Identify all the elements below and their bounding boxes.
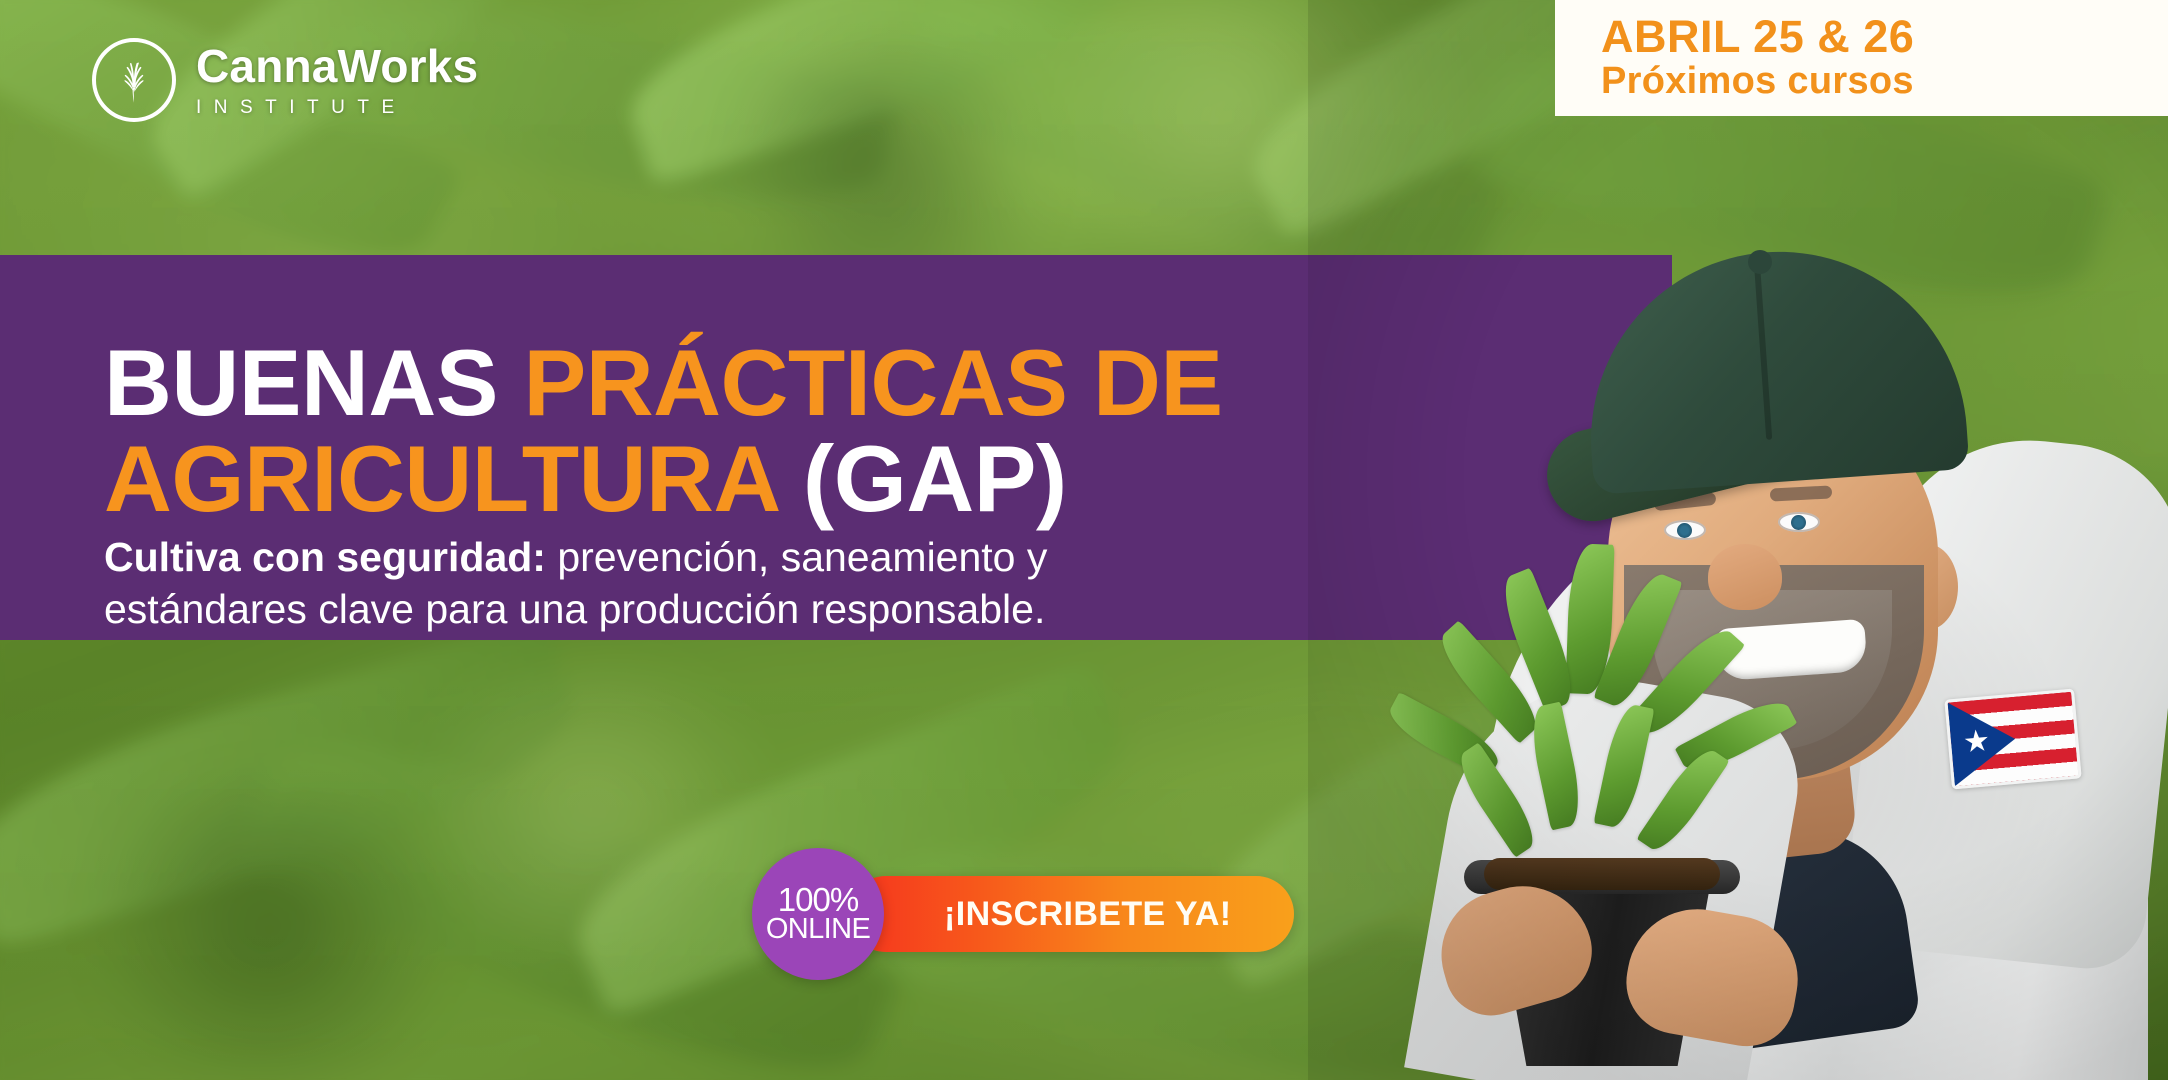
- headline-agricultura: AGRICULTURA: [104, 426, 803, 531]
- headline-buenas: BUENAS: [104, 330, 524, 435]
- photo-blend: [1308, 0, 2168, 1080]
- subtitle: Cultiva con seguridad: prevención, sanea…: [104, 531, 1104, 636]
- subtitle-lead: Cultiva con seguridad:: [104, 534, 546, 580]
- brand-wordmark: CannaWorks INSTITUTE: [196, 43, 478, 117]
- headline-line-1: BUENAS PRÁCTICAS DE: [104, 335, 1223, 431]
- brand-logo[interactable]: CannaWorks INSTITUTE: [92, 38, 478, 122]
- call-to-action: 100% ONLINE ¡INSCRIBETE YA!: [752, 848, 1294, 980]
- badge-online-label: ONLINE: [766, 915, 870, 944]
- enroll-button[interactable]: ¡INSCRIBETE YA!: [848, 876, 1294, 952]
- promotional-banner: CannaWorks INSTITUTE ABRIL 25 & 26 Próxi…: [0, 0, 2168, 1080]
- brand-subtitle: INSTITUTE: [196, 98, 478, 117]
- date-badge: ABRIL 25 & 26 Próximos cursos: [1555, 0, 2168, 116]
- cannabis-leaf-icon: [92, 38, 176, 122]
- instructor-photo: ★: [1308, 0, 2168, 1080]
- badge-percent: 100%: [778, 884, 858, 916]
- page-title: BUENAS PRÁCTICAS DE AGRICULTURA (GAP): [104, 335, 1223, 527]
- upcoming-courses-label: Próximos cursos: [1601, 60, 2168, 103]
- online-badge: 100% ONLINE: [752, 848, 884, 980]
- brand-name: CannaWorks: [196, 43, 478, 89]
- course-dates: ABRIL 25 & 26: [1601, 14, 2168, 60]
- headline-gap: (GAP): [803, 426, 1067, 531]
- headline-line-2: AGRICULTURA (GAP): [104, 431, 1223, 527]
- headline-practicas-de: PRÁCTICAS DE: [524, 330, 1223, 435]
